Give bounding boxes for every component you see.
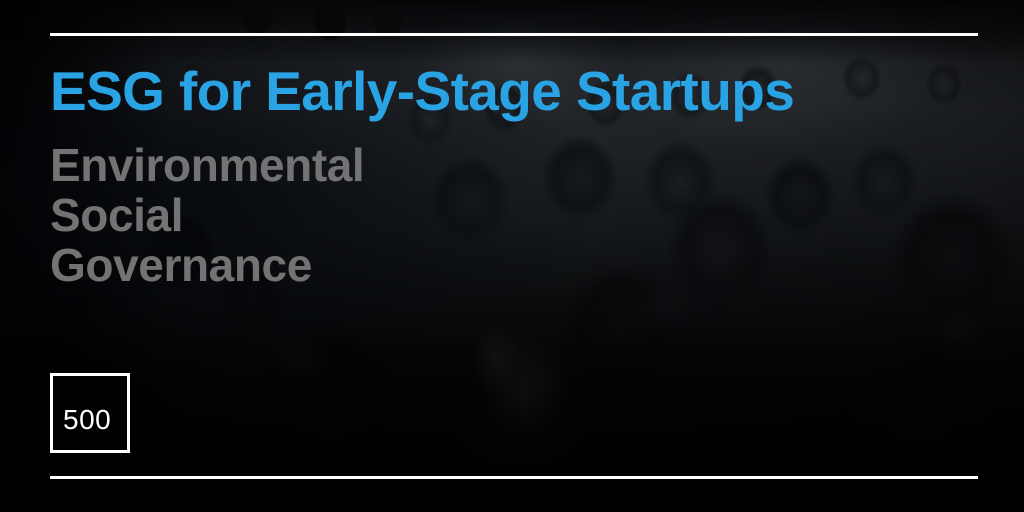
page-title: ESG for Early-Stage Startups <box>50 62 950 120</box>
text-content-block: ESG for Early-Stage Startups Environment… <box>50 62 950 290</box>
subtitle-environmental: Environmental <box>50 140 950 190</box>
subtitle-governance: Governance <box>50 240 950 290</box>
esg-banner: ESG for Early-Stage Startups Environment… <box>0 0 1024 512</box>
subtitle-social: Social <box>50 190 950 240</box>
logo-500-text: 500 <box>63 406 111 434</box>
top-divider-rule <box>50 33 978 36</box>
logo-500: 500 <box>50 373 130 453</box>
bottom-divider-rule <box>50 476 978 479</box>
